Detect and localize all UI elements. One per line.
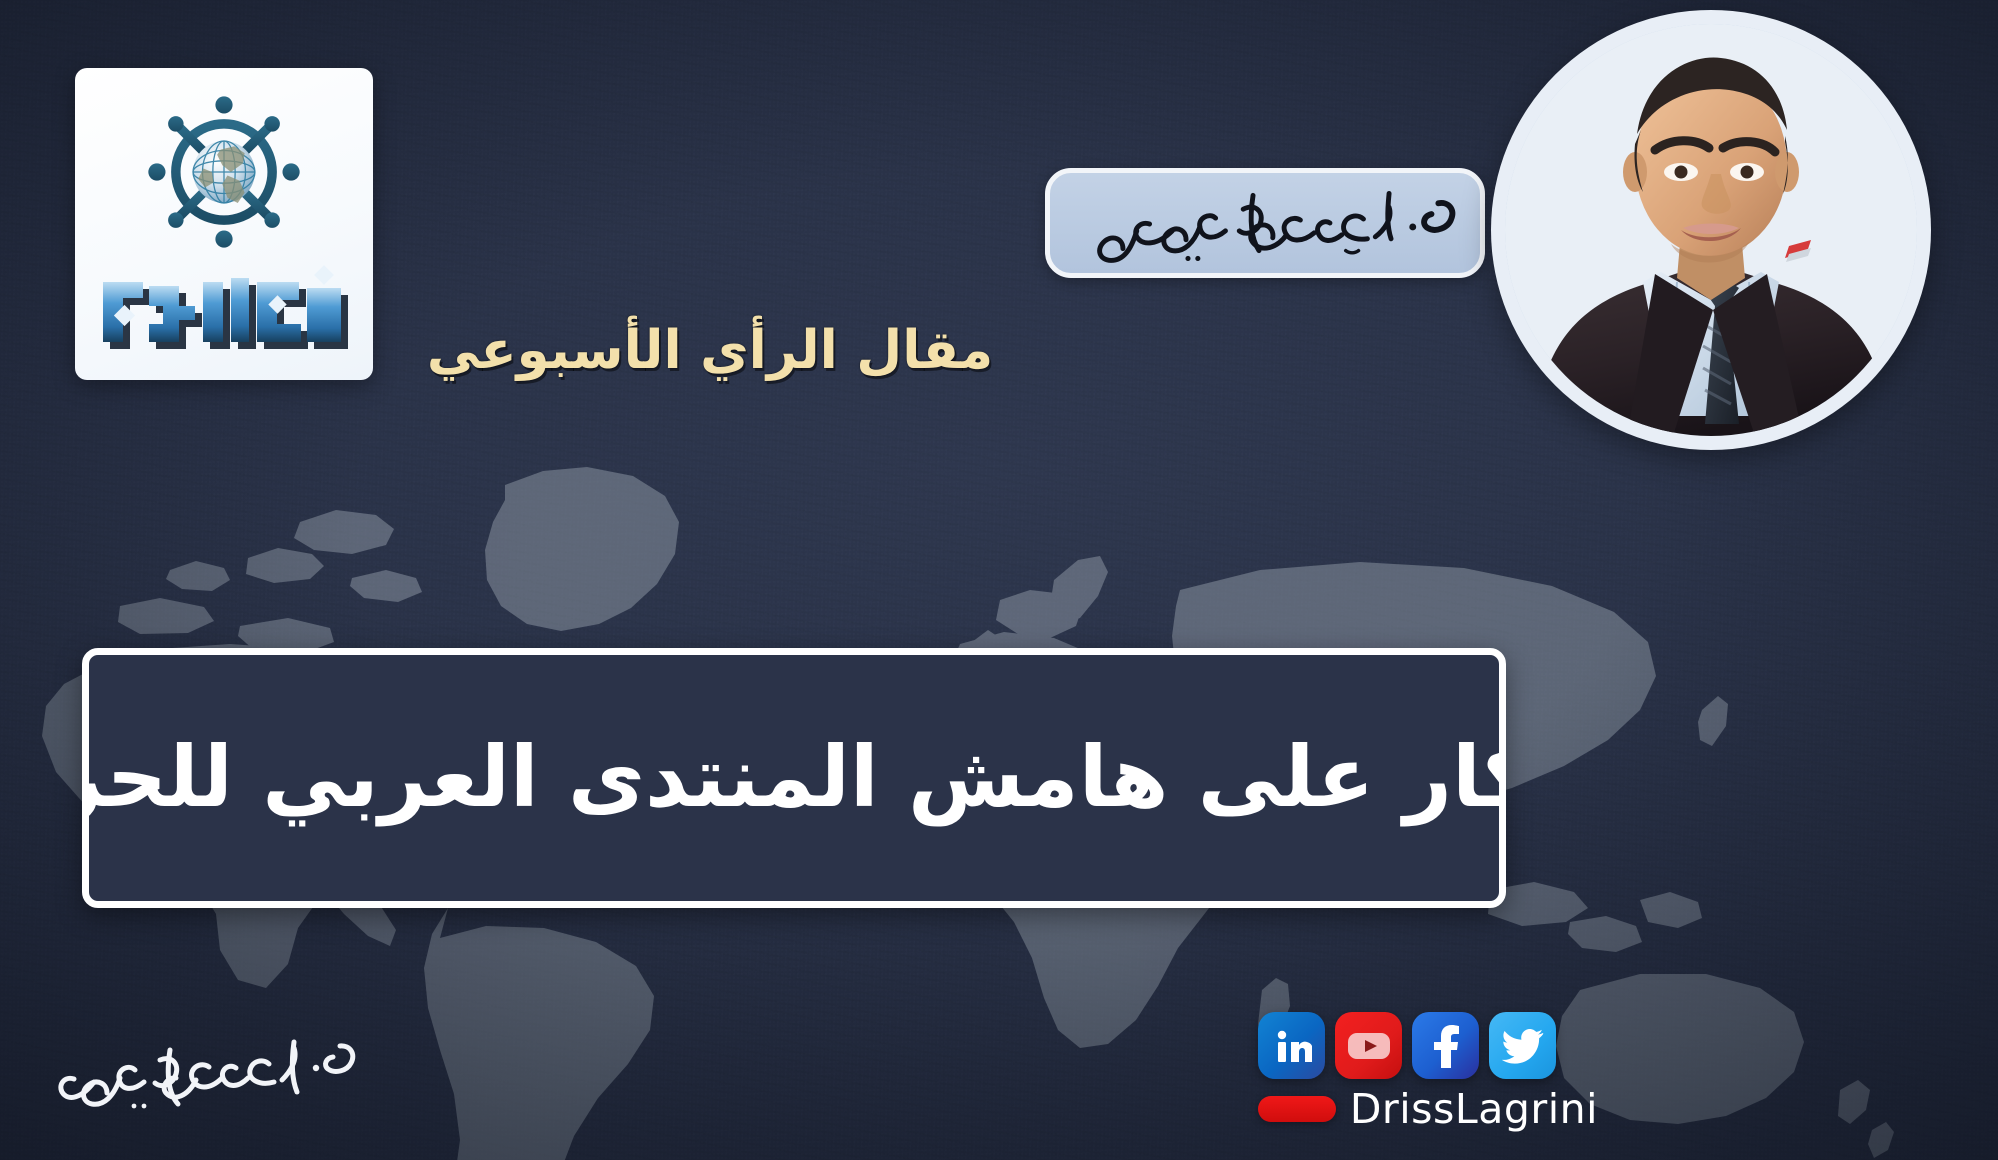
social-handle-text[interactable]: DrissLagrini (1350, 1085, 1598, 1133)
facebook-icon[interactable] (1412, 1012, 1479, 1079)
portrait-image (1505, 24, 1917, 436)
logo-wordmark (89, 260, 359, 368)
social-icon-row (1258, 1012, 1598, 1079)
poster-canvas: مقال الرأي الأسبوعي د. إدريس لكريني (0, 0, 1998, 1160)
twitter-icon[interactable] (1489, 1012, 1556, 1079)
article-title-box: أفكار على هامش المنتدى العربي للحرية (82, 648, 1506, 908)
newspaper-logo-card[interactable] (75, 68, 373, 380)
author-name-calligraphy: د. إدريس لكريني (1050, 175, 1464, 271)
linkedin-icon[interactable] (1258, 1012, 1325, 1079)
ship-wheel-globe-icon (138, 86, 310, 258)
red-underline-bar (1258, 1096, 1336, 1122)
social-handle-row: DrissLagrini (1258, 1085, 1598, 1133)
author-signature-calligraphy: د. ادريس لكريني (50, 1016, 360, 1136)
author-portrait (1491, 10, 1931, 450)
author-name-tag: د. إدريس لكريني (1045, 168, 1485, 278)
social-bar: DrissLagrini (1258, 1012, 1598, 1152)
weekly-opinion-subtitle: مقال الرأي الأسبوعي (430, 300, 990, 400)
author-signature: د. ادريس لكريني (50, 1016, 360, 1136)
youtube-icon[interactable] (1335, 1012, 1402, 1079)
article-title: أفكار على هامش المنتدى العربي للحرية (82, 728, 1506, 827)
